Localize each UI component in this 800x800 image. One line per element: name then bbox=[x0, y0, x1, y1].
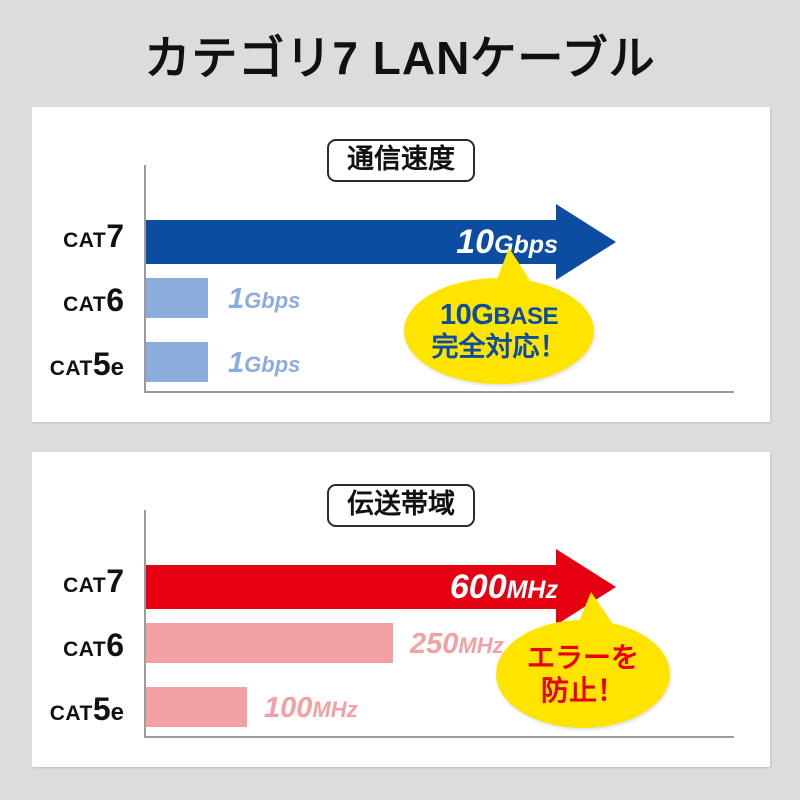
bubble-line1-a: 10G bbox=[440, 299, 493, 331]
value-number: 10 bbox=[456, 223, 494, 261]
category-label-cat7: CAT7 bbox=[63, 220, 124, 252]
category-label-cat5e: CAT5e bbox=[50, 693, 124, 725]
bar-cat7-speed: 10Gbps bbox=[146, 204, 616, 280]
callout-bubble-10gbase: 10GBASE 完全対応！ bbox=[404, 278, 594, 384]
cat-prefix: CAT bbox=[63, 229, 106, 252]
bar-value-cat6-speed: 1Gbps bbox=[228, 285, 300, 314]
chart-transmission-bandwidth: 伝送帯域 CAT7 CAT6 CAT5e 600MHz bbox=[32, 452, 770, 767]
section-tag-bandwidth: 伝送帯域 bbox=[327, 484, 475, 527]
bubble-line2: 防止！ bbox=[541, 676, 625, 706]
bar-cat6-bandwidth bbox=[146, 623, 393, 663]
category-label-cat7: CAT7 bbox=[63, 565, 124, 597]
cat-grade: 6 bbox=[106, 627, 124, 663]
panel-communication-speed: 通信速度 CAT7 CAT6 CAT5e 10Gbps bbox=[32, 107, 770, 422]
cat-grade: 7 bbox=[106, 563, 124, 599]
cat-suffix: e bbox=[111, 354, 124, 381]
category-label-cat6: CAT6 bbox=[63, 284, 124, 316]
cat-prefix: CAT bbox=[63, 638, 106, 661]
cat-suffix: e bbox=[111, 699, 124, 726]
value-unit: MHz bbox=[458, 633, 503, 658]
callout-bubble-error-prevention: エラーを 防止！ bbox=[496, 620, 670, 728]
category-label-cat6: CAT6 bbox=[63, 629, 124, 661]
cat-prefix: CAT bbox=[63, 293, 106, 316]
cat-grade: 6 bbox=[106, 282, 124, 318]
value-unit: Gbps bbox=[244, 352, 300, 377]
bubble-line1: エラーを bbox=[527, 643, 639, 673]
section-tag-speed: 通信速度 bbox=[327, 139, 475, 182]
chart-communication-speed: 通信速度 CAT7 CAT6 CAT5e 10Gbps bbox=[32, 107, 770, 422]
cat-prefix: CAT bbox=[63, 574, 106, 597]
page-title: カテゴリ7 LANケーブル bbox=[0, 22, 800, 88]
axis-horizontal bbox=[144, 736, 734, 738]
bar-value-cat7-bandwidth: 600MHz bbox=[450, 570, 558, 604]
panel-transmission-bandwidth: 伝送帯域 CAT7 CAT6 CAT5e 600MHz bbox=[32, 452, 770, 767]
bubble-tail bbox=[496, 248, 531, 282]
bar-value-cat5e-speed: 1Gbps bbox=[228, 349, 300, 378]
bubble-line2: 完全対応！ bbox=[432, 333, 567, 362]
value-number: 250 bbox=[410, 628, 458, 660]
axis-horizontal bbox=[144, 391, 734, 393]
infographic-page: カテゴリ7 LANケーブル 通信速度 CAT7 CAT6 CAT5e bbox=[0, 0, 800, 800]
value-number: 600 bbox=[450, 568, 507, 606]
value-unit: Gbps bbox=[244, 288, 300, 313]
bubble-line1-b: BASE bbox=[493, 303, 558, 330]
category-label-cat5e: CAT5e bbox=[50, 348, 124, 380]
value-number: 100 bbox=[264, 692, 312, 724]
bubble-tail bbox=[578, 592, 613, 624]
bar-value-cat6-bandwidth: 250MHz bbox=[410, 630, 504, 659]
bar-cat5e-speed bbox=[146, 342, 208, 382]
bar-value-cat5e-bandwidth: 100MHz bbox=[264, 694, 358, 723]
bubble-line1: 10GBASE bbox=[440, 300, 558, 331]
cat-prefix: CAT bbox=[50, 357, 93, 380]
value-unit: MHz bbox=[507, 576, 558, 604]
value-number: 1 bbox=[228, 347, 244, 379]
bar-cat5e-bandwidth bbox=[146, 687, 247, 727]
cat-prefix: CAT bbox=[50, 702, 93, 725]
value-unit: MHz bbox=[312, 697, 357, 722]
value-number: 1 bbox=[228, 283, 244, 315]
cat-grade: 5 bbox=[93, 346, 111, 382]
cat-grade: 5 bbox=[93, 691, 111, 727]
bar-cat7-bandwidth: 600MHz bbox=[146, 549, 616, 625]
bar-cat6-speed bbox=[146, 278, 208, 318]
cat-grade: 7 bbox=[106, 218, 124, 254]
